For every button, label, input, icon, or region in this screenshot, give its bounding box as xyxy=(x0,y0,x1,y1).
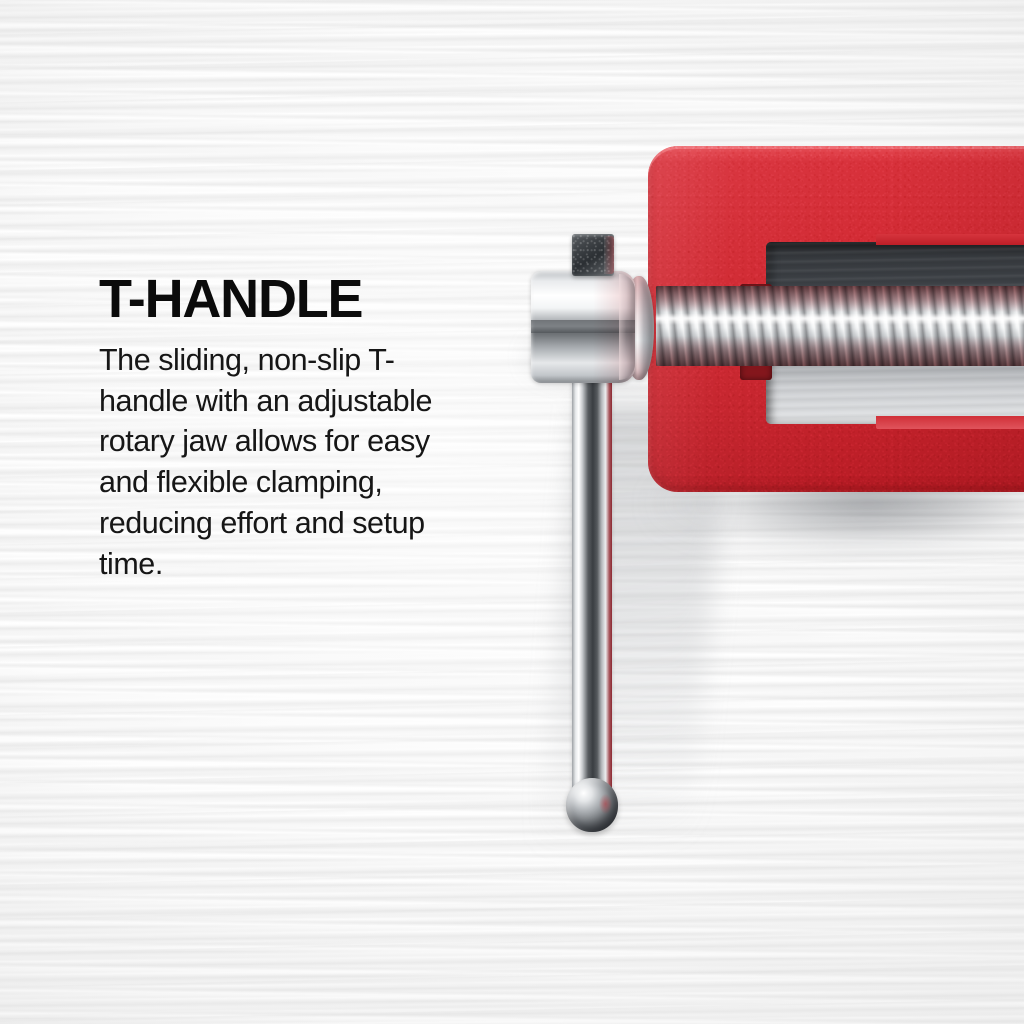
collar-red-reflection xyxy=(593,271,635,383)
handle-stub-texture xyxy=(572,234,614,276)
feature-body: The sliding, non-slip T-handle with an a… xyxy=(99,340,451,584)
handle-bar xyxy=(572,372,612,802)
handle-collar xyxy=(531,271,635,383)
feature-copy-block: T-HANDLE The sliding, non-slip T-handle … xyxy=(99,272,499,584)
feature-heading: T-HANDLE xyxy=(99,272,499,326)
rod-red-reflection-bottom xyxy=(656,336,1024,366)
product-feature-image: T-HANDLE The sliding, non-slip T-handle … xyxy=(0,0,1024,1024)
rod-specular-highlight xyxy=(656,313,1024,325)
threaded-rod xyxy=(656,286,1024,366)
vise-notch-bottom xyxy=(876,416,1024,429)
handle-ball-end xyxy=(566,778,618,832)
rod-red-reflection-top xyxy=(656,286,1024,312)
handle-stub xyxy=(572,234,614,276)
vise-notch-top xyxy=(876,234,1024,245)
